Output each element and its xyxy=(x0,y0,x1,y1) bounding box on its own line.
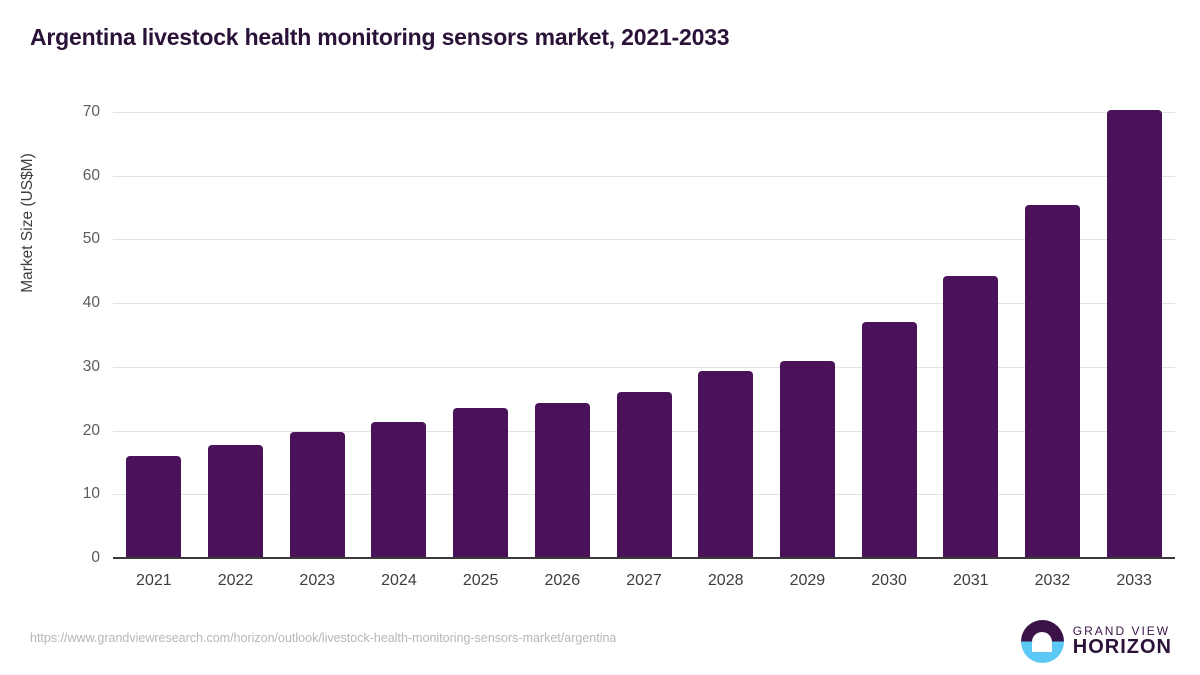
x-tick-label: 2023 xyxy=(272,572,362,590)
gridline xyxy=(113,367,1175,368)
bar[interactable] xyxy=(1107,110,1162,558)
x-tick-label: 2030 xyxy=(844,572,934,590)
gridline xyxy=(113,239,1175,240)
x-tick-label: 2024 xyxy=(354,572,444,590)
bar[interactable] xyxy=(943,276,998,558)
x-tick-label: 2026 xyxy=(517,572,607,590)
x-tick-label: 2028 xyxy=(681,572,771,590)
gridline xyxy=(113,176,1175,177)
sun-ray-icon-1 xyxy=(1034,644,1051,647)
bar[interactable] xyxy=(126,456,181,558)
plot-area xyxy=(113,112,1175,558)
bar[interactable] xyxy=(862,322,917,558)
x-tick-label: 2022 xyxy=(191,572,281,590)
horizon-sun-icon xyxy=(1021,620,1064,663)
x-tick-label: 2031 xyxy=(926,572,1016,590)
gridline xyxy=(113,112,1175,113)
sun-ray-icon-2 xyxy=(1036,649,1048,652)
x-tick-label: 2033 xyxy=(1089,572,1179,590)
y-axis-title: Market Size (US$M) xyxy=(19,0,37,473)
x-axis-line xyxy=(113,557,1175,559)
bar[interactable] xyxy=(453,408,508,558)
page-title: Argentina livestock health monitoring se… xyxy=(30,24,729,51)
logo-text: GRAND VIEW HORIZON xyxy=(1073,625,1172,659)
x-tick-label: 2025 xyxy=(436,572,526,590)
bar[interactable] xyxy=(698,371,753,558)
x-tick-label: 2027 xyxy=(599,572,689,590)
source-url[interactable]: https://www.grandviewresearch.com/horizo… xyxy=(30,631,616,645)
x-tick-label: 2029 xyxy=(762,572,852,590)
gridline xyxy=(113,303,1175,304)
y-tick-label: 0 xyxy=(10,549,100,567)
y-tick-label: 10 xyxy=(10,485,100,503)
bar[interactable] xyxy=(1025,205,1080,558)
x-tick-label: 2021 xyxy=(109,572,199,590)
bar[interactable] xyxy=(535,403,590,558)
bar[interactable] xyxy=(617,392,672,558)
logo-brand-line2: HORIZON xyxy=(1073,637,1172,658)
chart-page: Argentina livestock health monitoring se… xyxy=(0,0,1200,675)
bar[interactable] xyxy=(780,361,835,559)
bar[interactable] xyxy=(290,432,345,558)
bar[interactable] xyxy=(208,445,263,558)
y-axis-ticks: 010203040506070 xyxy=(0,112,100,558)
bar[interactable] xyxy=(371,422,426,558)
grand-view-horizon-logo: GRAND VIEW HORIZON xyxy=(1021,620,1172,663)
x-tick-label: 2032 xyxy=(1007,572,1097,590)
